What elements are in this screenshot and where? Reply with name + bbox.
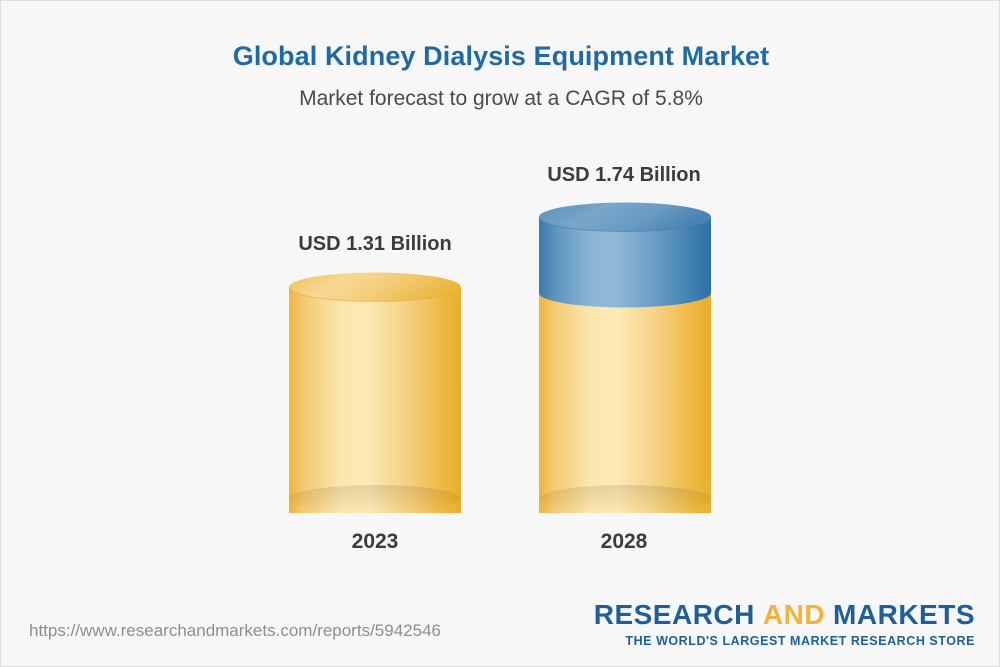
bar-value-label-2023: USD 1.31 Billion: [265, 233, 485, 256]
category-label-2028: 2028: [514, 530, 734, 554]
bar-value-label-2028: USD 1.74 Billion: [514, 164, 734, 187]
logo-word-and: AND: [763, 599, 825, 630]
source-url[interactable]: https://www.researchandmarkets.com/repor…: [29, 621, 441, 641]
bar-2023: [289, 273, 461, 514]
chart-title: Global Kidney Dialysis Equipment Market: [1, 41, 1000, 72]
logo-tagline: THE WORLD'S LARGEST MARKET RESEARCH STOR…: [594, 635, 975, 648]
bar-2028-bottom-shade: [539, 485, 711, 513]
logo-wordmark: RESEARCHANDMARKETS: [594, 601, 975, 629]
research-and-markets-logo: RESEARCHANDMARKETS THE WORLD'S LARGEST M…: [594, 601, 975, 648]
bar-2028: [539, 203, 711, 514]
logo-word-markets: MARKETS: [833, 599, 975, 630]
bar-2023-body: [289, 287, 461, 513]
logo-word-research: RESEARCH: [594, 599, 755, 630]
chart-subtitle: Market forecast to grow at a CAGR of 5.8…: [1, 87, 1000, 111]
category-label-2023: 2023: [265, 530, 485, 554]
chart-image-frame: Global Kidney Dialysis Equipment Market …: [0, 0, 1000, 667]
bar-2023-bottom-shade: [289, 485, 461, 513]
bar-2028-base-body: [539, 293, 711, 513]
